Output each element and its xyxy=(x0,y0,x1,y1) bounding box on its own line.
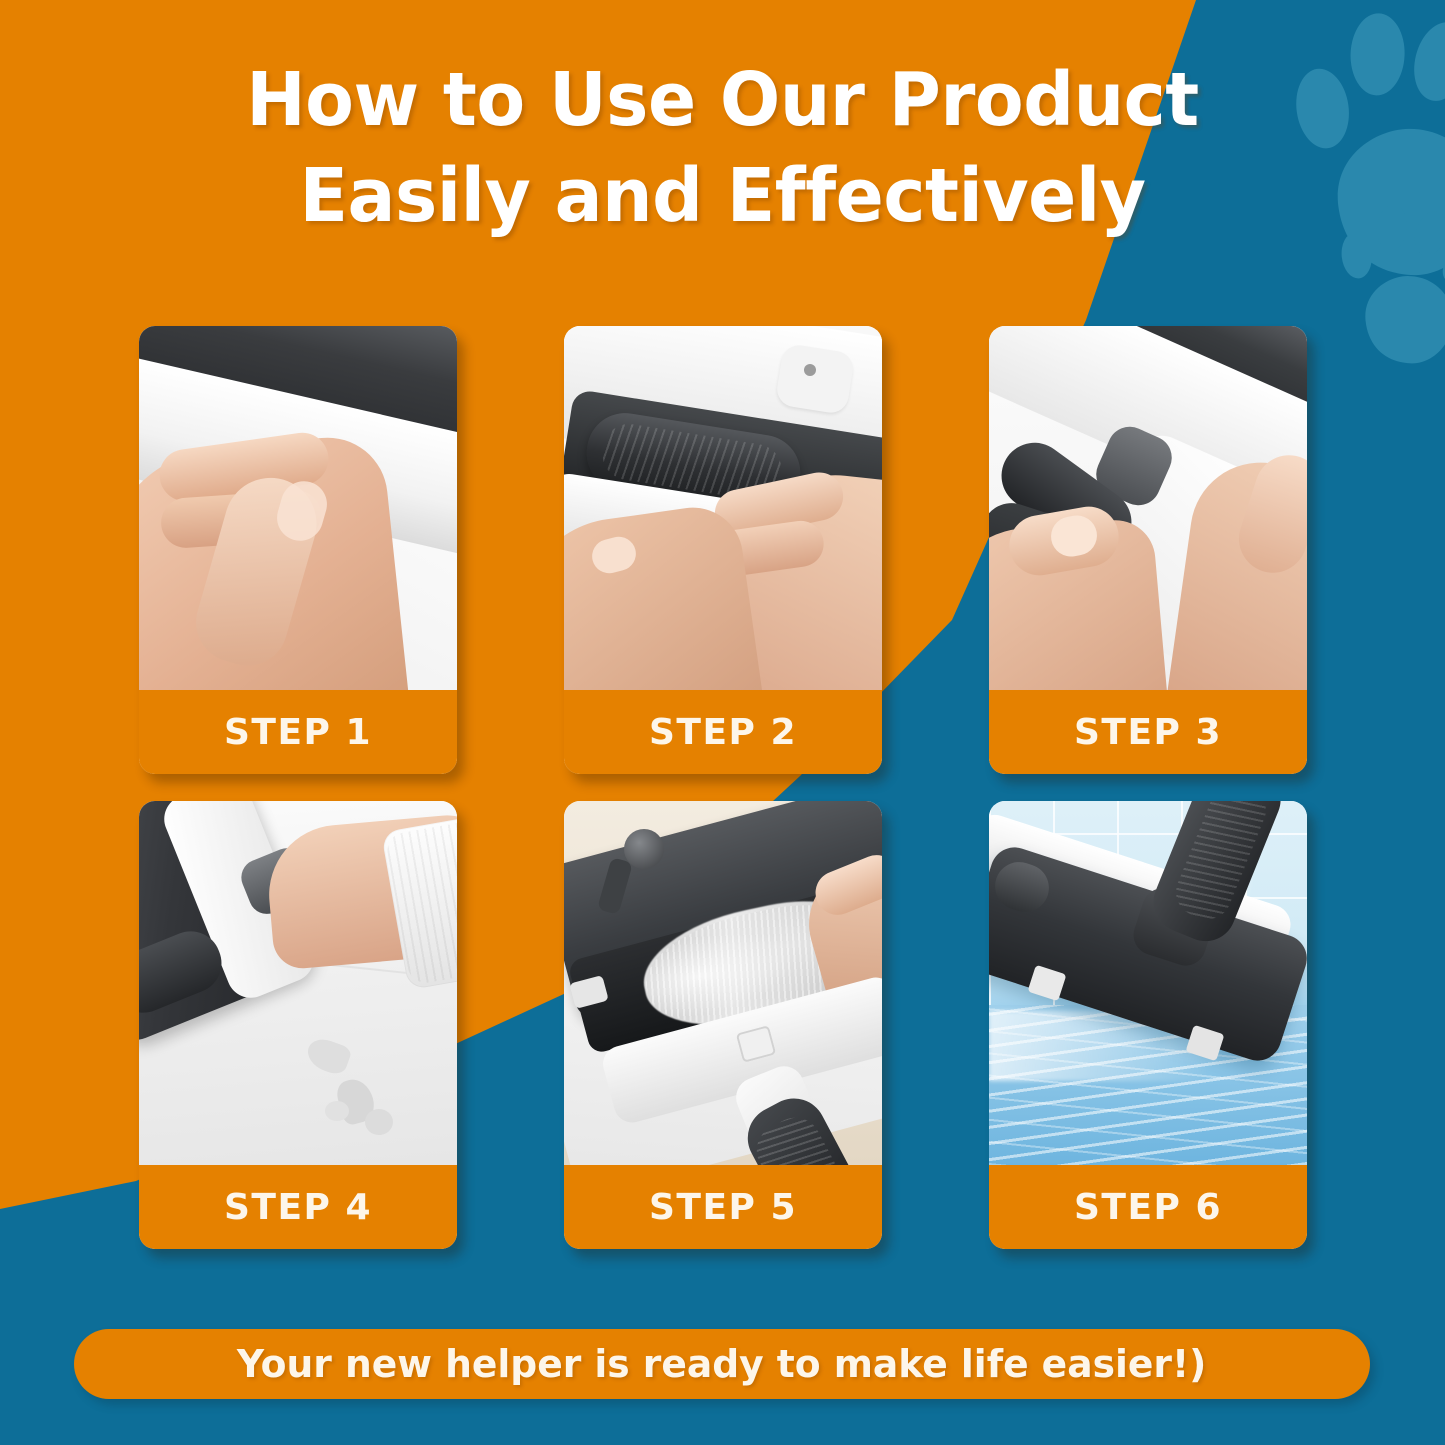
step-2-label-text: STEP 2 xyxy=(649,712,797,753)
steps-grid: STEP 1 STEP 2 xyxy=(139,326,1319,1249)
step-4-label-bar: STEP 4 xyxy=(139,1165,457,1249)
step-card-3[interactable]: STEP 3 xyxy=(989,326,1307,774)
step-1-label-bar: STEP 1 xyxy=(139,690,457,774)
footer-banner-text: Your new helper is ready to make life ea… xyxy=(237,1342,1206,1386)
step-3-label-text: STEP 3 xyxy=(1074,712,1222,753)
step-3-photo xyxy=(989,326,1307,690)
step-6-label-text: STEP 6 xyxy=(1074,1187,1222,1228)
step-5-photo xyxy=(564,801,882,1165)
step-card-1[interactable]: STEP 1 xyxy=(139,326,457,774)
step-6-label-bar: STEP 6 xyxy=(989,1165,1307,1249)
step-card-4[interactable]: STEP 4 xyxy=(139,801,457,1249)
step-card-5[interactable]: STEP 5 xyxy=(564,801,882,1249)
step-2-label-bar: STEP 2 xyxy=(564,690,882,774)
footer-banner: Your new helper is ready to make life ea… xyxy=(74,1329,1370,1399)
step-2-photo xyxy=(564,326,882,690)
page-header: How to Use Our Product Easily and Effect… xyxy=(0,58,1445,238)
step-card-6[interactable]: STEP 6 xyxy=(989,801,1307,1249)
step-4-label-text: STEP 4 xyxy=(224,1187,372,1228)
page-title-line-1: How to Use Our Product xyxy=(29,58,1416,142)
step-card-2[interactable]: STEP 2 xyxy=(564,326,882,774)
step-6-photo xyxy=(989,801,1307,1165)
step-5-label-text: STEP 5 xyxy=(649,1187,797,1228)
step-5-label-bar: STEP 5 xyxy=(564,1165,882,1249)
step-1-label-text: STEP 1 xyxy=(224,712,372,753)
step-3-label-bar: STEP 3 xyxy=(989,690,1307,774)
step-1-photo xyxy=(139,326,457,690)
step-4-photo xyxy=(139,801,457,1165)
page-title-line-2: Easily and Effectively xyxy=(29,154,1416,238)
